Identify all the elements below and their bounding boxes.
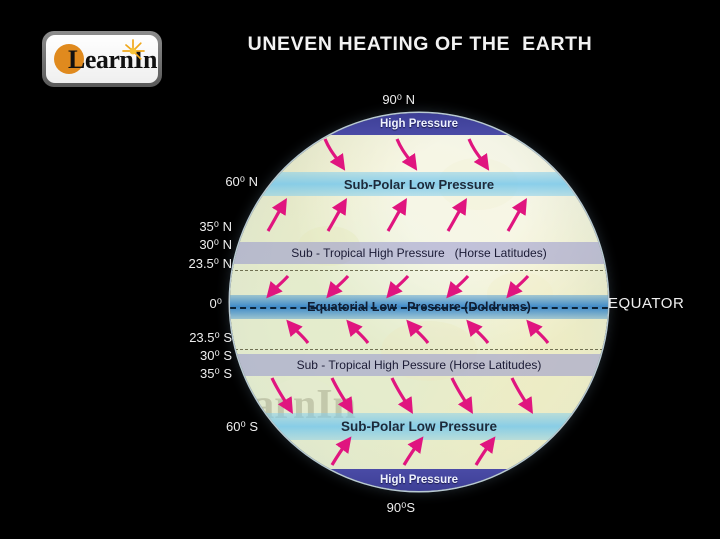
arrow-polar-easterly-n xyxy=(397,139,414,166)
band-north-subpolar-low: Sub-Polar Low Pressure xyxy=(230,172,608,196)
arrow-westerly-n xyxy=(508,203,524,231)
latitude-label-23-5s: 23.5⁰ S xyxy=(0,330,232,346)
band-label: Sub-Polar Low Pressure xyxy=(344,177,494,192)
arrow-westerly-s xyxy=(452,378,470,409)
latitude-label-60s: 60⁰ S xyxy=(0,419,258,435)
earth-globe: eLearnIn High Pressure Sub-Polar Low Pre… xyxy=(230,113,608,491)
equator-side-label: EQUATOR xyxy=(608,295,684,312)
arrow-westerly-s xyxy=(392,378,410,409)
arrow-trade-n xyxy=(390,276,408,294)
band-label: Sub - Tropical High Pressure (Horse Lati… xyxy=(291,246,546,260)
arrow-trade-s xyxy=(290,324,308,343)
arrow-trade-n xyxy=(450,276,468,294)
latitude-label-30n: 30⁰ N xyxy=(0,237,232,253)
band-label: High Pressure xyxy=(380,118,458,130)
latitude-label-35n: 35⁰ N xyxy=(0,219,232,235)
latitude-label-30s: 30⁰ S xyxy=(0,348,232,364)
arrow-trade-s xyxy=(350,324,368,343)
arrow-polar-easterly-n xyxy=(325,139,342,166)
latitude-label-60n: 60⁰ N xyxy=(0,174,258,190)
latitude-label-23-5n: 23.5⁰ N xyxy=(0,256,232,272)
arrow-westerly-s xyxy=(512,378,530,409)
tropic-of-capricorn-line xyxy=(230,349,608,350)
page-title: UNEVEN HEATING OF THE EARTH xyxy=(0,33,720,56)
band-north-polar-high: High Pressure xyxy=(230,113,608,135)
arrow-trade-n xyxy=(330,276,348,294)
latitude-label-90s: 90⁰S xyxy=(0,500,415,516)
band-label: Sub-Polar Low Pressure xyxy=(341,419,497,434)
latitude-label-90n: 90⁰ N xyxy=(0,92,415,108)
arrow-westerly-n xyxy=(388,203,404,231)
latitude-label-0: 0⁰ xyxy=(0,296,222,312)
arrow-polar-easterly-s xyxy=(332,441,348,465)
equator-line xyxy=(230,307,608,309)
band-label: High Pressure xyxy=(380,474,458,486)
arrow-trade-n xyxy=(270,276,288,294)
arrow-polar-easterly-s xyxy=(404,441,420,465)
tropic-of-cancer-line xyxy=(230,270,608,271)
arrow-polar-easterly-s xyxy=(476,441,492,465)
diagram-canvas: LearnIn UNEVEN HEATING OF THE EARTH eLea xyxy=(0,0,720,539)
arrow-trade-s xyxy=(530,324,548,343)
band-north-subtropical-high: Sub - Tropical High Pressure (Horse Lati… xyxy=(230,242,608,264)
band-label: Sub - Tropical High Pessure (Horse Latit… xyxy=(297,358,542,372)
band-south-subtropical-high: Sub - Tropical High Pessure (Horse Latit… xyxy=(230,354,608,376)
band-south-subpolar-low: Sub-Polar Low Pressure xyxy=(230,413,608,440)
latitude-label-35s: 35⁰ S xyxy=(0,366,232,382)
arrow-westerly-n xyxy=(268,203,284,231)
band-south-polar-high: High Pressure xyxy=(230,469,608,491)
